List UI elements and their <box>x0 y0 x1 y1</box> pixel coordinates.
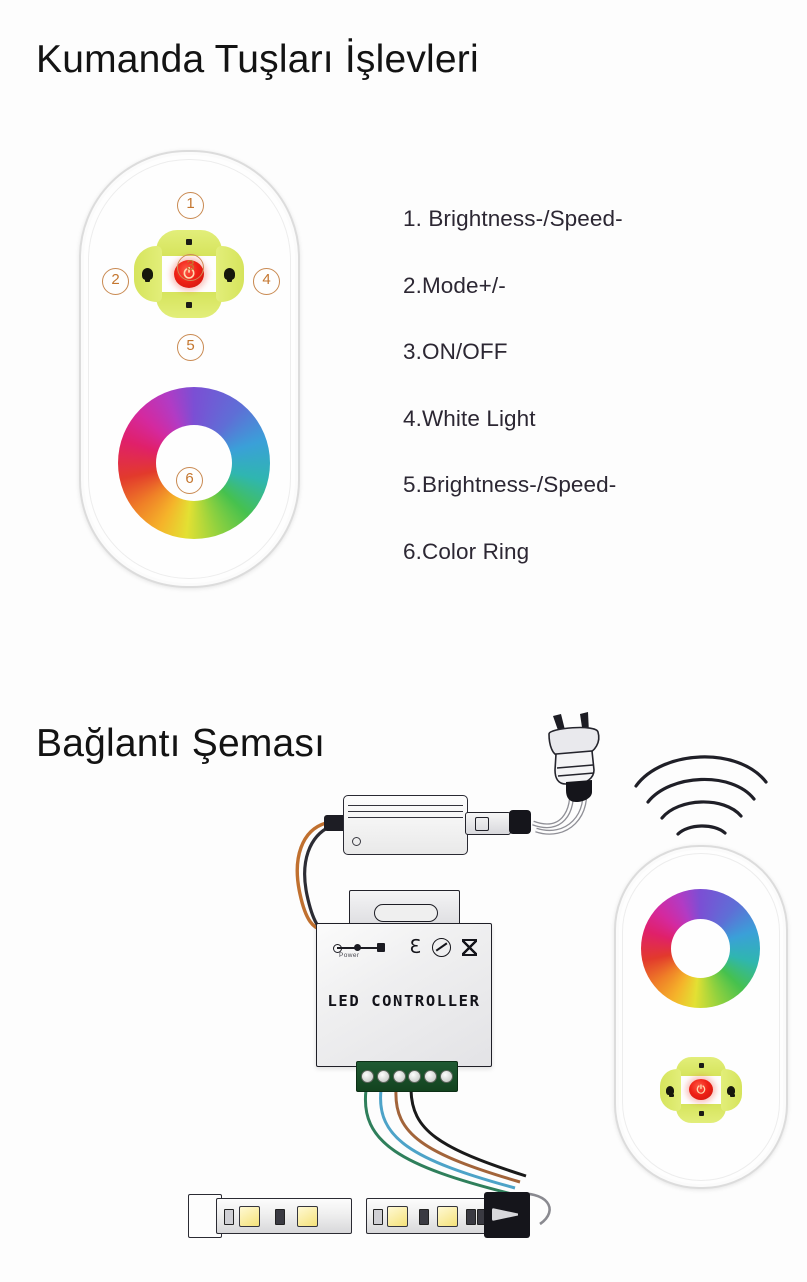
callout-2: 2 <box>102 268 129 295</box>
mode-bulb-icon <box>666 1086 674 1095</box>
wiring-diagram-section: Power ℇ LED CONTROLLER <box>0 690 807 1282</box>
terminal-screw <box>408 1070 421 1083</box>
power-button[interactable]: ⏻ <box>689 1079 713 1100</box>
legend-item-6: 6.Color Ring <box>403 541 733 564</box>
strip-led-chip <box>239 1206 260 1227</box>
brightness-up-dot-icon <box>699 1063 704 1068</box>
rohs-mark-icon <box>432 938 451 957</box>
terminal-screw <box>361 1070 374 1083</box>
psu-output-connector <box>465 812 511 835</box>
strip-resistor <box>373 1209 383 1225</box>
controller-label: LED CONTROLLER <box>317 992 491 1010</box>
terminal-screw <box>440 1070 453 1083</box>
strip-connector <box>484 1192 530 1238</box>
ac-wall-plug-icon <box>549 712 599 802</box>
remote-button-pad: ⏻ <box>660 1057 742 1123</box>
legend-item-2: 2.Mode+/- <box>403 275 733 298</box>
color-ring-touch-wheel[interactable] <box>118 387 270 539</box>
page-title-key-functions: Kumanda Tuşları İşlevleri <box>36 38 479 82</box>
power-icon: ⏻ <box>697 1084 706 1095</box>
led-strip-5050 <box>188 1190 518 1242</box>
strip-resistor <box>275 1209 285 1225</box>
legend-item-1: 1. Brightness-/Speed- <box>403 208 733 231</box>
terminal-screw <box>377 1070 390 1083</box>
psu-vent-line <box>348 805 463 806</box>
legend-item-4: 4.White Light <box>403 408 733 431</box>
rgb-touch-remote-wiring: ⏻ <box>614 845 788 1189</box>
strip-resistor <box>466 1209 476 1225</box>
psu-status-led-icon <box>352 837 361 846</box>
rgb-touch-remote-illustration: ⏻ 1 2 3 4 5 6 <box>79 150 300 588</box>
strip-segment <box>216 1198 352 1234</box>
legend-item-5: 5.Brightness-/Speed- <box>403 474 733 497</box>
psu-socket-icon <box>475 817 489 831</box>
power-adapter <box>343 795 468 855</box>
callout-1: 1 <box>177 192 204 219</box>
strip-resistor <box>419 1209 429 1225</box>
legend-item-3: 3.ON/OFF <box>403 341 733 364</box>
power-connector-mark: Power <box>333 941 391 961</box>
power-label: Power <box>339 952 359 959</box>
white-light-bulb-icon <box>224 268 235 280</box>
certification-marks: ℇ <box>409 938 477 957</box>
psu-vent-line <box>348 817 463 818</box>
controller-terminal-block <box>356 1061 458 1092</box>
mode-bulb-icon <box>142 268 153 280</box>
terminal-screw <box>424 1070 437 1083</box>
wireless-signal-waves-icon <box>636 757 766 834</box>
psu-vent-line <box>348 811 463 812</box>
ce-mark-icon: ℇ <box>409 938 421 957</box>
color-ring-touch-wheel[interactable] <box>641 889 760 1008</box>
key-functions-section: ⏻ 1 2 3 4 5 6 1. Brightness-/Speed- 2.Mo… <box>0 130 807 610</box>
brightness-up-dot-icon <box>186 239 192 245</box>
psu-dc-plug <box>509 810 531 834</box>
power-mark-dot-icon <box>354 944 361 951</box>
callout-3: 3 <box>177 254 204 281</box>
callout-4: 4 <box>253 268 280 295</box>
callout-6: 6 <box>176 467 203 494</box>
callout-5: 5 <box>177 334 204 361</box>
page-root: Kumanda Tuşları İşlevleri ⏻ 1 <box>0 0 807 1282</box>
white-light-bulb-icon <box>727 1086 735 1095</box>
strip-led-chip <box>437 1206 458 1227</box>
bracket-slot <box>374 904 438 922</box>
strip-led-chip <box>387 1206 408 1227</box>
brightness-down-dot-icon <box>186 302 192 308</box>
terminal-screw <box>393 1070 406 1083</box>
power-mark-end-icon <box>377 943 385 952</box>
weee-mark-icon <box>462 939 477 956</box>
strip-resistor <box>224 1209 234 1225</box>
key-functions-legend: 1. Brightness-/Speed- 2.Mode+/- 3.ON/OFF… <box>403 208 733 607</box>
led-controller-box: Power ℇ LED CONTROLLER <box>316 923 492 1067</box>
brightness-down-dot-icon <box>699 1111 704 1116</box>
strip-led-chip <box>297 1206 318 1227</box>
